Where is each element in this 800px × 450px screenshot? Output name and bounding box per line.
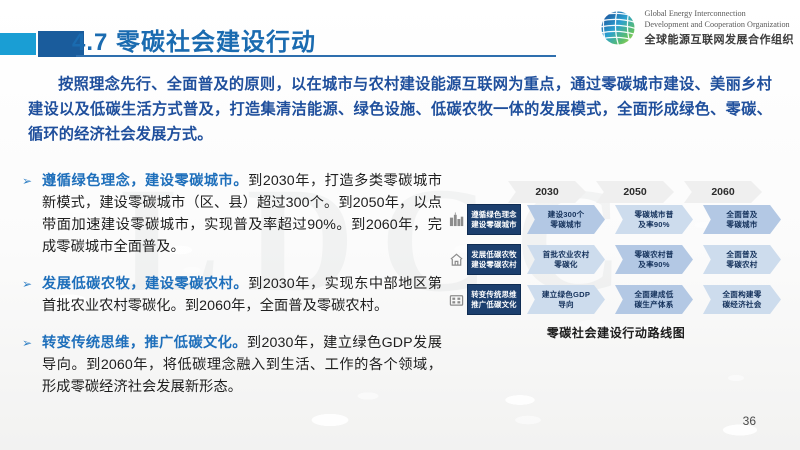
cell-line1: 建设300个	[548, 210, 585, 220]
cell-line1: 全面建成低	[635, 290, 674, 300]
lead-paragraph: 按照理念先行、全面普及的原则，以在城市与农村建设能源互联网为重点，通过零碳城市建…	[28, 72, 772, 147]
roadmap-row-3: 转变传统思维 推广低碳文化 建立绿色GDP 导向 全面建成低 碳生产体系 全面构…	[448, 284, 784, 315]
cell-line2: 及率90%	[638, 260, 669, 270]
roadmap-row-3-label-line2: 推广低碳文化	[471, 300, 517, 310]
bullet-item-3: ➢ 转变传统思维，推广低碳文化。到2030年，建立绿色GDP发展导向。到2060…	[22, 332, 442, 398]
bullet-arrow-icon: ➢	[22, 276, 32, 293]
cell-line1: 零碳农村普	[635, 250, 674, 260]
cell-line2: 碳生产体系	[635, 300, 674, 310]
cell-line1: 全面普及	[726, 210, 757, 220]
cell-line2: 零碳城市	[726, 220, 757, 230]
roadmap-cell-r3c1: 建立绿色GDP 导向	[527, 285, 605, 314]
roadmap-cell-r1c3: 全面普及 零碳城市	[703, 205, 781, 234]
roadmap-row-1-label-line2: 建设零碳城市	[471, 220, 517, 230]
cell-line2: 及率90%	[638, 220, 669, 230]
factory-industry-icon	[448, 291, 464, 309]
roadmap-caption: 零碳社会建设行动路线图	[448, 324, 784, 341]
cell-line2: 零碳城市	[550, 220, 581, 230]
cell-line1: 首批农业农村	[543, 250, 590, 260]
roadmap-row-1-label: 遵循绿色理念 建设零碳城市	[467, 204, 521, 235]
roadmap-cell-r2c3: 全面普及 零碳农村	[703, 245, 781, 274]
logo-en-line2: Development and Cooperation Organization	[645, 20, 795, 31]
logo-en-line1: Global Energy Interconnection	[645, 9, 795, 20]
cell-line2: 碳经济社会	[723, 300, 762, 310]
city-buildings-icon	[448, 211, 464, 229]
roadmap-cell-r2c1: 首批农业农村 零碳化	[527, 245, 605, 274]
roadmap-cell-r3c2: 全面建成低 碳生产体系	[615, 285, 693, 314]
roadmap-cell-r1c1: 建设300个 零碳城市	[527, 205, 605, 234]
roadmap-row-2-label: 发展低碳农牧 建设零碳农村	[467, 244, 521, 275]
roadmap-row-3-label-line1: 转变传统思维	[471, 290, 517, 300]
roadmap-row-2: 发展低碳农牧 建设零碳农村 首批农业农村 零碳化 零碳农村普 及率90% 全面普…	[448, 244, 784, 275]
roadmap-row-1: 遵循绿色理念 建设零碳城市 建设300个 零碳城市 零碳城市普 及率90% 全面…	[448, 204, 784, 235]
roadmap-row-2-label-line1: 发展低碳农牧	[471, 250, 517, 260]
cell-line1: 全面普及	[726, 250, 757, 260]
cell-line1: 全面构建零	[723, 290, 762, 300]
page-title: 4.7 零碳社会建设行动	[72, 22, 316, 57]
roadmap-year-2060: 2060	[684, 181, 762, 203]
bullet-3-highlight: 转变传统思维，推广低碳文化。	[42, 335, 247, 351]
bullet-1-highlight: 遵循绿色理念，建设零碳城市。	[42, 173, 248, 189]
roadmap-year-2050: 2050	[596, 181, 674, 203]
roadmap-cell-r1c2: 零碳城市普 及率90%	[615, 205, 693, 234]
cell-line1: 零碳城市普	[635, 210, 674, 220]
title-underline	[76, 55, 556, 57]
logo-cn-name: 全球能源互联网发展合作组织	[645, 31, 795, 47]
roadmap-row-2-label-line2: 建设零碳农村	[471, 260, 517, 270]
page-number: 36	[743, 414, 756, 428]
bullet-item-1: ➢ 遵循绿色理念，建设零碳城市。到2030年，打造多类零碳城市新模式，建设零碳城…	[22, 170, 442, 258]
roadmap-year-2030: 2030	[508, 181, 586, 203]
logo-text-block: Global Energy Interconnection Developmen…	[645, 9, 795, 47]
organization-logo: Global Energy Interconnection Developmen…	[598, 8, 795, 48]
cell-line1: 建立绿色GDP	[542, 290, 590, 300]
cell-line2: 导向	[558, 300, 574, 310]
bullet-item-2: ➢ 发展低碳农牧，建设零碳农村。到2030年，实现东中部地区第首批农业农村零碳化…	[22, 273, 442, 317]
bullet-arrow-icon: ➢	[22, 335, 32, 352]
farm-house-icon	[448, 251, 464, 269]
roadmap-row-1-label-line1: 遵循绿色理念	[471, 210, 517, 220]
roadmap-row-3-label: 转变传统思维 推广低碳文化	[467, 284, 521, 315]
bullet-arrow-icon: ➢	[22, 173, 32, 190]
header-accent-square-cyan	[0, 33, 36, 55]
lead-paragraph-text: 按照理念先行、全面普及的原则，以在城市与农村建设能源互联网为重点，通过零碳城市建…	[28, 76, 772, 143]
roadmap-diagram: 2030 2050 2060 遵循绿色理念 建设零碳城市 建设300个 零碳城市	[448, 180, 784, 341]
roadmap-year-header: 2030 2050 2060	[508, 180, 784, 204]
cell-line2: 零碳化	[554, 260, 577, 270]
roadmap-cell-r3c3: 全面构建零 碳经济社会	[703, 285, 781, 314]
cell-line2: 零碳农村	[726, 260, 757, 270]
roadmap-cell-r2c2: 零碳农村普 及率90%	[615, 245, 693, 274]
bullet-list: ➢ 遵循绿色理念，建设零碳城市。到2030年，打造多类零碳城市新模式，建设零碳城…	[22, 170, 442, 413]
globe-logo-icon	[598, 8, 638, 48]
bullet-2-highlight: 发展低碳农牧，建设零碳农村。	[42, 276, 248, 292]
slide-root: LDCC 4.7 零碳社会建设行动	[0, 0, 800, 450]
